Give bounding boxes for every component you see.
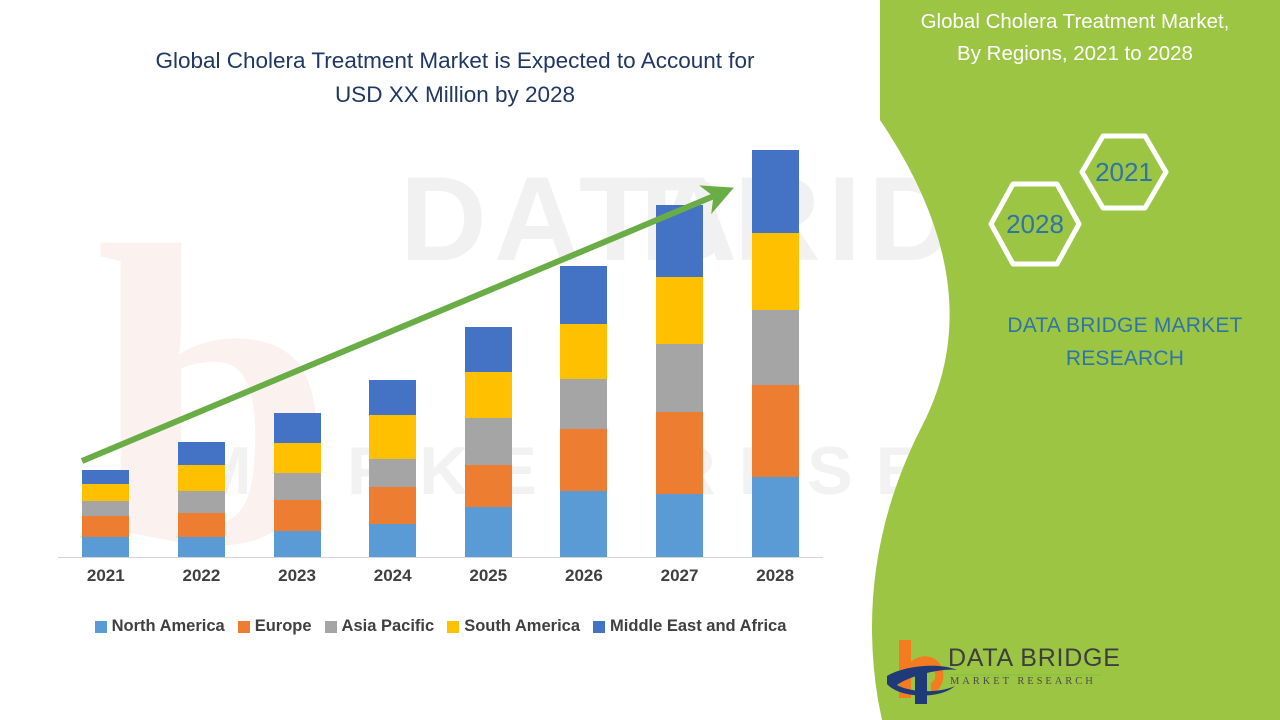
bar-segment <box>178 491 225 513</box>
stacked-bar[interactable] <box>369 380 416 557</box>
bar-segment <box>82 537 129 557</box>
bar-slot <box>441 327 537 557</box>
x-axis-tick-2025: 2025 <box>441 560 537 592</box>
bar-slot <box>536 266 632 557</box>
bar-segment <box>274 413 321 443</box>
bar-segment <box>274 473 321 500</box>
plot-area <box>58 140 838 558</box>
chart-title-line-1: Global Cholera Treatment Market is Expec… <box>60 44 850 78</box>
chart-title: Global Cholera Treatment Market is Expec… <box>60 44 850 112</box>
hexagon-2021-label: 2021 <box>1095 157 1153 187</box>
bar-segment <box>369 524 416 557</box>
legend-swatch-icon <box>95 621 107 633</box>
legend-label: North America <box>112 617 225 636</box>
panel-title-line-1: Global Cholera Treatment Market, <box>875 6 1275 38</box>
bar-segment <box>369 380 416 415</box>
panel-title: Global Cholera Treatment Market, By Regi… <box>875 6 1275 70</box>
brand-name: DATA BRIDGE MARKET RESEARCH <box>965 310 1280 375</box>
bar-segment <box>656 494 703 557</box>
x-axis-tick-2021: 2021 <box>58 560 154 592</box>
brand-name-line-1: DATA BRIDGE MARKET <box>965 310 1280 343</box>
bar-segment <box>178 537 225 557</box>
bar-segment <box>274 443 321 473</box>
bar-segment <box>274 500 321 531</box>
bar-segment <box>369 487 416 524</box>
bar-segment <box>82 501 129 516</box>
bar-segment <box>560 324 607 379</box>
legend-swatch-icon <box>593 621 605 633</box>
logo-text-sub: MARKET RESEARCH <box>950 676 1096 687</box>
legend-item[interactable]: Asia Pacific <box>325 617 435 636</box>
bar-segment <box>274 531 321 557</box>
brand-name-line-2: RESEARCH <box>965 343 1280 376</box>
legend-item[interactable]: Europe <box>238 617 312 636</box>
logo-text-main: DATA BRIDGE <box>948 644 1121 673</box>
legend-swatch-icon <box>238 621 250 633</box>
bar-segment <box>465 465 512 507</box>
bar-segment <box>560 266 607 324</box>
stacked-bar[interactable] <box>178 442 225 557</box>
legend-swatch-icon <box>447 621 459 633</box>
bar-segment <box>82 484 129 502</box>
legend-swatch-icon <box>325 621 337 633</box>
bar-segment <box>178 513 225 537</box>
x-axis-labels: 20212022202320242025202620272028 <box>58 560 823 592</box>
bar-segment <box>178 442 225 465</box>
legend-label: Asia Pacific <box>342 617 435 636</box>
bar-segment <box>656 412 703 494</box>
bar-slot <box>632 205 728 557</box>
stacked-bar[interactable] <box>465 327 512 557</box>
x-axis-tick-2027: 2027 <box>632 560 728 592</box>
bar-slot <box>345 380 441 557</box>
bar-segment <box>178 465 225 491</box>
x-axis-tick-2022: 2022 <box>154 560 250 592</box>
stacked-bar[interactable] <box>656 205 703 557</box>
stacked-bar[interactable] <box>82 470 129 557</box>
bar-segment <box>656 205 703 277</box>
hexagon-2028-label: 2028 <box>1006 209 1064 239</box>
bar-segment <box>82 516 129 537</box>
x-axis-tick-2024: 2024 <box>345 560 441 592</box>
bar-slot <box>154 442 250 557</box>
x-axis-tick-2023: 2023 <box>249 560 345 592</box>
legend-label: Europe <box>255 617 312 636</box>
bar-segment <box>465 327 512 372</box>
bar-segment <box>465 418 512 465</box>
bar-group <box>58 140 823 557</box>
bar-slot <box>249 413 345 557</box>
bar-segment <box>656 344 703 412</box>
bar-segment <box>465 372 512 418</box>
bar-segment <box>560 429 607 492</box>
bar-segment <box>369 415 416 459</box>
legend-label: South America <box>464 617 580 636</box>
panel-title-line-2: By Regions, 2021 to 2028 <box>875 38 1275 70</box>
legend-item[interactable]: Middle East and Africa <box>593 617 786 636</box>
hexagon-badges: 2021 2028 <box>985 128 1185 288</box>
legend-item[interactable]: North America <box>95 617 225 636</box>
bar-slot <box>58 470 154 557</box>
chart-legend: North AmericaEuropeAsia PacificSouth Ame… <box>58 617 823 636</box>
x-axis-tick-2026: 2026 <box>536 560 632 592</box>
bar-segment <box>560 491 607 557</box>
chart-title-line-2: USD XX Million by 2028 <box>60 78 850 112</box>
bar-segment <box>560 379 607 428</box>
legend-item[interactable]: South America <box>447 617 580 636</box>
bar-segment <box>465 507 512 557</box>
bar-segment <box>369 459 416 486</box>
x-axis-line <box>58 557 823 558</box>
stacked-bar[interactable] <box>560 266 607 557</box>
stacked-bar[interactable] <box>274 413 321 557</box>
slide-canvas: b DATA BRIDGE MARKET RESEARCH Global Cho… <box>0 0 1280 720</box>
bar-segment <box>656 277 703 344</box>
bar-segment <box>82 470 129 483</box>
